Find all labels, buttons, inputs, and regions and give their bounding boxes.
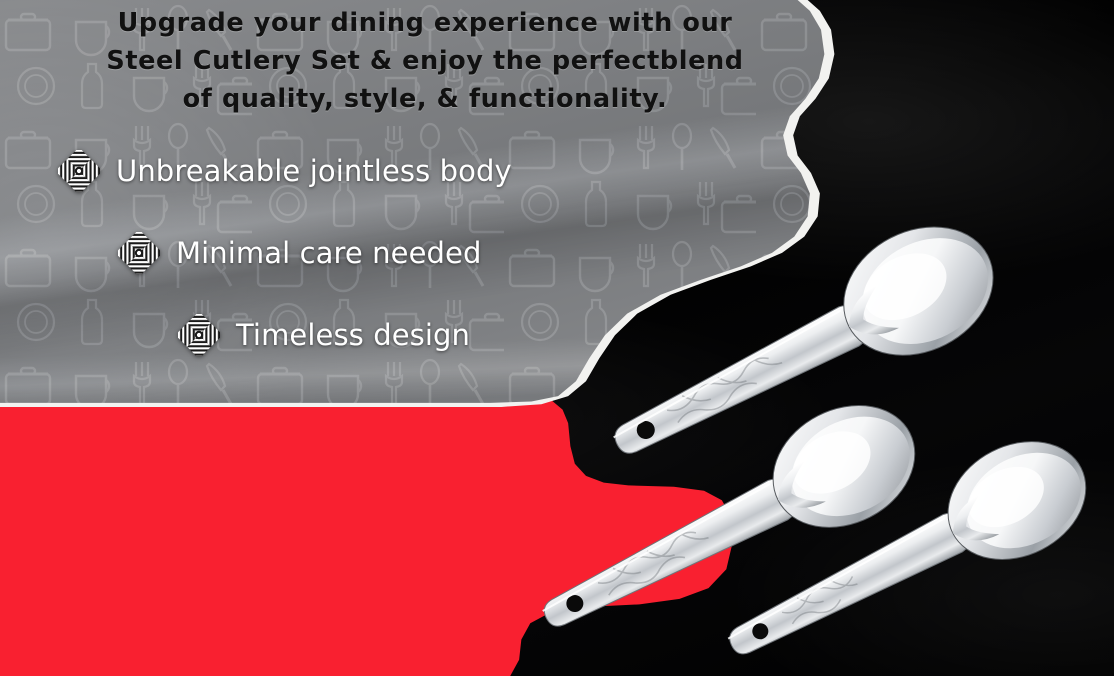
diamond-ornament-icon <box>118 232 160 274</box>
diamond-ornament-icon <box>178 314 220 356</box>
list-item: Minimal care needed <box>0 232 620 274</box>
promo-banner: Upgrade your dining experience with our … <box>0 0 1114 676</box>
diamond-ornament-icon <box>58 150 100 192</box>
feature-label: Unbreakable jointless body <box>116 154 512 188</box>
list-item: Unbreakable jointless body <box>0 150 620 192</box>
list-item: Timeless design <box>0 314 620 356</box>
page-title: Upgrade your dining experience with our … <box>0 4 850 118</box>
feature-label: Timeless design <box>236 318 470 352</box>
feature-list: Unbreakable jointless body Minimal car <box>0 150 620 396</box>
spoon-icon <box>690 410 1114 676</box>
feature-label: Minimal care needed <box>176 236 482 270</box>
